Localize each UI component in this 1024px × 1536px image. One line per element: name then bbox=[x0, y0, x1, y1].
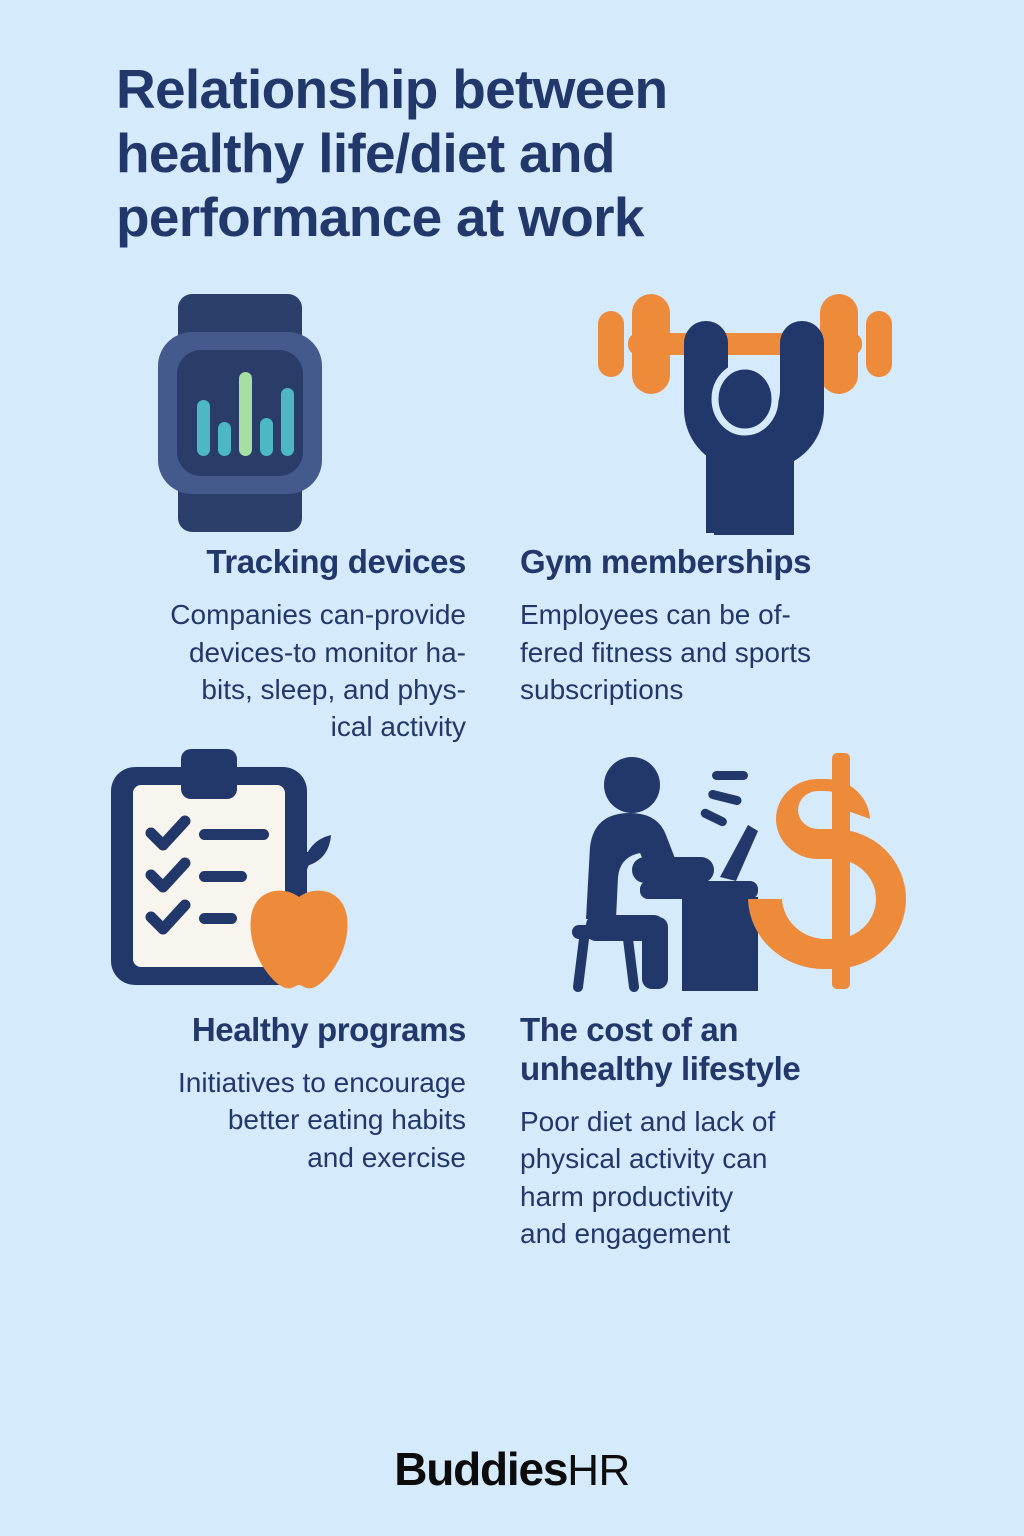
card-tracking-devices: Tracking devices Companies can-provide d… bbox=[14, 283, 484, 745]
infographic-page: Relationship between healthy life/diet a… bbox=[0, 0, 1024, 1536]
card-title: Healthy programs bbox=[192, 1011, 466, 1050]
logo-hr: HR bbox=[567, 1446, 630, 1496]
smartwatch-icon-wrap bbox=[14, 283, 466, 543]
clipboard-apple-icon bbox=[95, 747, 385, 995]
card-title: Tracking devices bbox=[206, 543, 466, 582]
card-body: Companies can-provide devices-to monitor… bbox=[170, 596, 466, 745]
card-gym-memberships: Gym memberships Employees can be of- fer… bbox=[500, 283, 970, 745]
brand-logo: Buddies HR bbox=[0, 1442, 1024, 1496]
card-cost-unhealthy-lifestyle: The cost of an unhealthy lifestyle Poor … bbox=[500, 745, 970, 1252]
weightlifter-icon bbox=[580, 289, 910, 537]
card-body: Poor diet and lack of physical activity … bbox=[520, 1103, 775, 1252]
card-title: Gym memberships bbox=[520, 543, 811, 582]
weightlifter-icon-wrap bbox=[520, 283, 970, 543]
card-healthy-programs: Healthy programs Initiatives to encourag… bbox=[14, 745, 484, 1252]
smartwatch-icon bbox=[150, 288, 330, 538]
card-grid: Tracking devices Companies can-provide d… bbox=[0, 283, 1024, 1252]
desk-worker-dollar-icon-wrap bbox=[520, 745, 970, 995]
card-body: Initiatives to encourage better eating h… bbox=[178, 1064, 466, 1176]
card-body: Employees can be of- fered fitness and s… bbox=[520, 596, 811, 708]
clipboard-apple-icon-wrap bbox=[14, 745, 466, 995]
logo-buddies: Buddies bbox=[394, 1442, 567, 1496]
card-title: The cost of an unhealthy lifestyle bbox=[520, 1011, 800, 1089]
desk-worker-dollar-icon bbox=[570, 747, 920, 995]
page-title: Relationship between healthy life/diet a… bbox=[116, 58, 876, 249]
